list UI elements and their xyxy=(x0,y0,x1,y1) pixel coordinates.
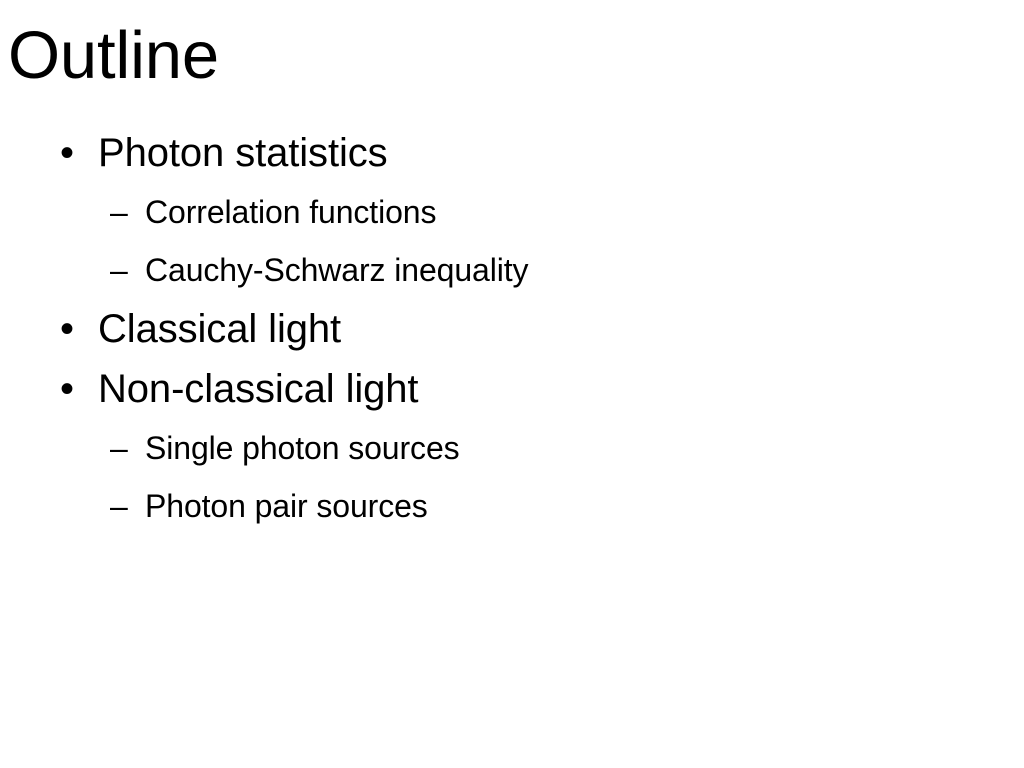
list-item-label: Correlation functions xyxy=(145,184,436,240)
outline-bullet-list: • Photon statistics – Correlation functi… xyxy=(0,124,1000,536)
list-item-label: Classical light xyxy=(98,300,341,358)
list-item: • Non-classical light xyxy=(0,360,1000,420)
bullet-dash-icon: – xyxy=(110,478,145,534)
bullet-dot-icon: • xyxy=(60,300,98,358)
list-item-label: Non-classical light xyxy=(98,360,418,418)
bullet-dash-icon: – xyxy=(110,420,145,476)
list-item: – Single photon sources xyxy=(0,420,1000,478)
bullet-dash-icon: – xyxy=(110,242,145,298)
slide: Outline • Photon statistics – Correlatio… xyxy=(0,0,1024,768)
list-item-label: Photon pair sources xyxy=(145,478,428,534)
list-item: • Photon statistics xyxy=(0,124,1000,184)
list-item-label: Cauchy-Schwarz inequality xyxy=(145,242,528,298)
bullet-dash-icon: – xyxy=(110,184,145,240)
list-item-label: Photon statistics xyxy=(98,124,388,182)
list-item: • Classical light xyxy=(0,300,1000,360)
list-item-label: Single photon sources xyxy=(145,420,460,476)
list-item: – Correlation functions xyxy=(0,184,1000,242)
page-title: Outline xyxy=(8,22,1008,89)
list-item: – Photon pair sources xyxy=(0,478,1000,536)
bullet-dot-icon: • xyxy=(60,124,98,182)
list-item: – Cauchy-Schwarz inequality xyxy=(0,242,1000,300)
bullet-dot-icon: • xyxy=(60,360,98,418)
